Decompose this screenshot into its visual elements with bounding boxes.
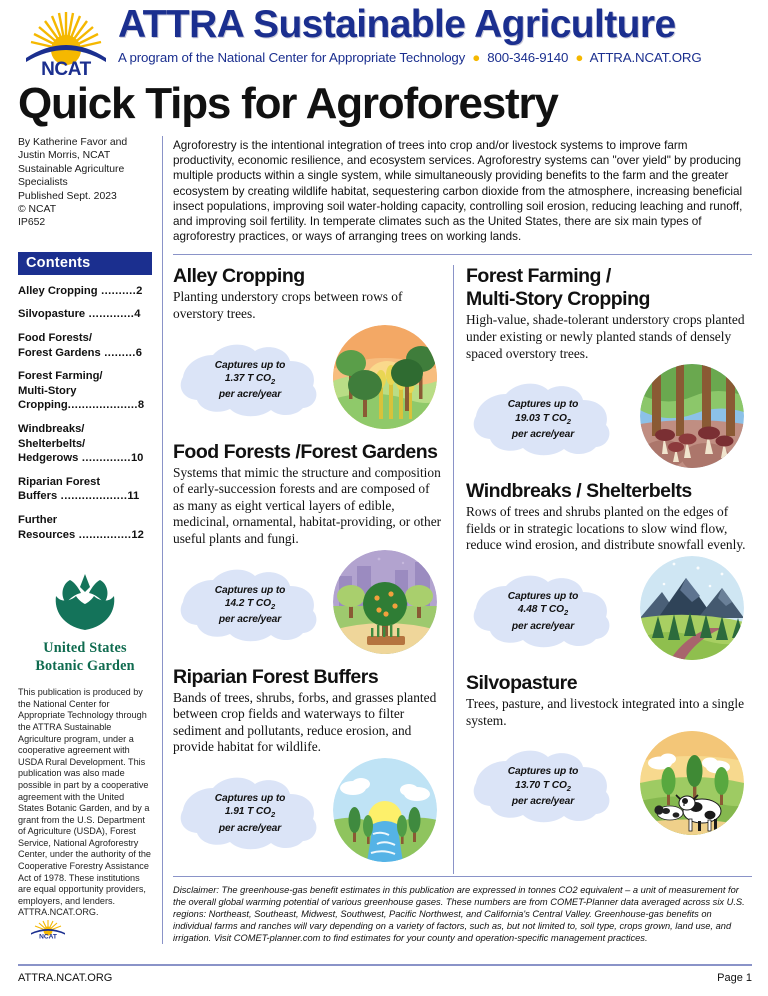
capture-label: Captures up to (175, 792, 325, 805)
two-column-sections: Alley CroppingPlanting understory crops … (163, 265, 752, 874)
fineprint-text: This publication is produced by the Nati… (18, 687, 151, 917)
capture-value: 13.70 T CO2 (468, 779, 618, 795)
toc-entry-title: FurtherResources (18, 514, 75, 541)
usbg-line-2: Botanic Garden (18, 657, 152, 675)
toc-entry[interactable]: FurtherResources ...............12 (18, 513, 152, 542)
page-title: Quick Tips for Agroforestry (0, 78, 768, 130)
toc-entry-page: 6 (136, 347, 142, 359)
toc-leader-dots: ............... (75, 529, 131, 541)
brand-program-text: A program of the National Center for App… (118, 50, 465, 65)
contents-heading: Contents (18, 252, 152, 275)
sidebar: By Katherine Favor and Justin Morris, NC… (18, 136, 162, 944)
capture-unit: per acre/year (468, 795, 618, 808)
practice-description: High-value, shade-tolerant understory cr… (466, 312, 750, 362)
capture-unit: per acre/year (175, 388, 325, 401)
carbon-capture-cloud: Captures up to4.48 T CO2per acre/year (468, 570, 618, 654)
practice-figure-row: Captures up to13.70 T CO2per acre/year (466, 731, 750, 843)
body-wrapper: By Katherine Favor and Justin Morris, NC… (0, 136, 768, 944)
carbon-capture-cloud: Captures up to19.03 T CO2per acre/year (468, 378, 618, 462)
main-content: Agroforestry is the intentional integrat… (163, 136, 752, 944)
practice-section: SilvopastureTrees, pasture, and livestoc… (466, 672, 750, 843)
practice-title: Windbreaks / Shelterbelts (466, 480, 750, 503)
capture-unit: per acre/year (468, 620, 618, 633)
ncat-logo: NCAT (18, 6, 114, 76)
practice-description: Planting understory crops between rows o… (173, 289, 443, 322)
practice-title: Forest Farming /Multi-Story Cropping (466, 265, 750, 311)
table-of-contents: Alley Cropping ..........2Silvopasture .… (18, 284, 152, 542)
capture-label: Captures up to (468, 765, 618, 778)
masthead: NCAT ATTRA Sustainable Agriculture A pro… (0, 0, 768, 80)
carbon-capture-cloud: Captures up to1.91 T CO2per acre/year (175, 772, 325, 856)
left-section-column: Alley CroppingPlanting understory crops … (163, 265, 453, 874)
toc-leader-dots: ............. (85, 308, 134, 320)
footer-divider (18, 964, 752, 966)
toc-entry-title: Food Forests/Forest Gardens (18, 332, 101, 359)
svg-text:NCAT: NCAT (41, 59, 92, 76)
ncat-small-logo-icon: NCAT (22, 919, 74, 939)
separator-dot-icon: ● (469, 50, 484, 65)
intro-divider (173, 254, 752, 255)
practice-figure-row: Captures up to14.2 T CO2per acre/year (173, 550, 443, 662)
capture-label: Captures up to (468, 398, 618, 411)
toc-entry[interactable]: Riparian ForestBuffers .................… (18, 475, 152, 504)
carbon-capture-text: Captures up to13.70 T CO2per acre/year (468, 765, 618, 808)
toc-leader-dots: .......... (98, 285, 137, 297)
practice-description: Rows of trees and shrubs planted on the … (466, 504, 750, 554)
capture-unit: per acre/year (468, 428, 618, 441)
toc-entry[interactable]: Silvopasture .............4 (18, 307, 152, 322)
practice-description: Systems that mimic the structure and com… (173, 465, 443, 548)
published-date: Published Sept. 2023 (18, 190, 152, 203)
svg-text:NCAT: NCAT (39, 934, 57, 939)
windbreaks-illustration (640, 556, 744, 660)
toc-entry-page: 11 (127, 490, 139, 502)
toc-entry[interactable]: Food Forests/Forest Gardens .........6 (18, 331, 152, 360)
riparian-buffer-illustration (333, 758, 437, 862)
columns-container: By Katherine Favor and Justin Morris, NC… (18, 136, 752, 944)
toc-entry[interactable]: Alley Cropping ..........2 (18, 284, 152, 299)
footer-website[interactable]: ATTRA.NCAT.ORG (18, 972, 112, 984)
carbon-capture-cloud: Captures up to1.37 T CO2per acre/year (175, 339, 325, 423)
right-section-column: Forest Farming /Multi-Story CroppingHigh… (454, 265, 752, 874)
toc-entry-page: 8 (138, 399, 144, 411)
practice-figure-row: Captures up to1.91 T CO2per acre/year (173, 758, 443, 870)
capture-value: 19.03 T CO2 (468, 412, 618, 428)
practice-section: Food Forests /Forest GardensSystems that… (173, 441, 443, 662)
fineprint-block: This publication is produced by the Nati… (18, 687, 152, 939)
toc-entry[interactable]: Forest Farming/Multi-StoryCropping......… (18, 369, 152, 413)
footer-page-number: Page 1 (717, 972, 752, 984)
silvopasture-illustration (640, 731, 744, 835)
toc-entry-title: Alley Cropping (18, 285, 98, 297)
toc-entry-page: 12 (131, 529, 143, 541)
usbg-line-1: United States (18, 639, 152, 657)
food-forest-illustration (333, 550, 437, 654)
practice-section: Riparian Forest BuffersBands of trees, s… (173, 666, 443, 870)
practice-section: Forest Farming /Multi-Story CroppingHigh… (466, 265, 750, 476)
practice-figure-row: Captures up to1.37 T CO2per acre/year (173, 325, 443, 437)
capture-label: Captures up to (175, 584, 325, 597)
carbon-capture-text: Captures up to19.03 T CO2per acre/year (468, 398, 618, 441)
practice-figure-row: Captures up to19.03 T CO2per acre/year (466, 364, 750, 476)
byline-authors: By Katherine Favor and Justin Morris, NC… (18, 136, 152, 190)
toc-leader-dots: .............. (78, 452, 131, 464)
disclaimer-text: Disclaimer: The greenhouse-gas benefit e… (173, 884, 752, 944)
usbg-name: United States Botanic Garden (18, 639, 152, 675)
intro-paragraph: Agroforestry is the intentional integrat… (163, 136, 752, 244)
document-page: NCAT ATTRA Sustainable Agriculture A pro… (0, 0, 768, 996)
carbon-capture-cloud: Captures up to13.70 T CO2per acre/year (468, 745, 618, 829)
capture-value: 4.48 T CO2 (468, 603, 618, 619)
botanic-garden-flower-icon (48, 570, 122, 632)
carbon-capture-text: Captures up to1.91 T CO2per acre/year (175, 792, 325, 835)
toc-entry-page: 2 (136, 285, 142, 297)
toc-entry-title: Windbreaks/Shelterbelts/Hedgerows (18, 423, 85, 464)
carbon-capture-text: Captures up to14.2 T CO2per acre/year (175, 584, 325, 627)
capture-unit: per acre/year (175, 822, 325, 835)
practice-description: Trees, pasture, and livestock integrated… (466, 696, 750, 729)
practice-title: Food Forests /Forest Gardens (173, 441, 443, 464)
practice-section: Windbreaks / ShelterbeltsRows of trees a… (466, 480, 750, 668)
toc-entry-page: 10 (131, 452, 143, 464)
page-footer: ATTRA.NCAT.ORG Page 1 (18, 964, 752, 984)
toc-leader-dots: ......... (101, 347, 136, 359)
toc-leader-dots: .................... (68, 399, 138, 411)
toc-entry-title: Silvopasture (18, 308, 85, 320)
toc-entry-page: 4 (134, 308, 140, 320)
toc-entry[interactable]: Windbreaks/Shelterbelts/Hedgerows ......… (18, 422, 152, 466)
publication-id: IP652 (18, 216, 152, 229)
practice-title: Alley Cropping (173, 265, 443, 288)
brand-title: ATTRA Sustainable Agriculture (118, 2, 758, 48)
byline-block: By Katherine Favor and Justin Morris, NC… (18, 136, 152, 230)
practice-title: Silvopasture (466, 672, 750, 695)
carbon-capture-text: Captures up to4.48 T CO2per acre/year (468, 590, 618, 633)
disclaimer-block: Disclaimer: The greenhouse-gas benefit e… (163, 876, 752, 944)
copyright: © NCAT (18, 203, 152, 216)
capture-value: 1.91 T CO2 (175, 805, 325, 821)
brand-phone: 800-346-9140 (487, 50, 568, 65)
disclaimer-divider (173, 876, 752, 877)
forest-farming-illustration (640, 364, 744, 468)
practice-section: Alley CroppingPlanting understory crops … (173, 265, 443, 436)
practice-description: Bands of trees, shrubs, forbs, and grass… (173, 690, 443, 756)
capture-unit: per acre/year (175, 613, 325, 626)
carbon-capture-text: Captures up to1.37 T CO2per acre/year (175, 359, 325, 402)
separator-dot-icon-2: ● (572, 50, 587, 65)
toc-leader-dots: ................... (57, 490, 127, 502)
brand-website[interactable]: ATTRA.NCAT.ORG (590, 50, 702, 65)
practice-title: Riparian Forest Buffers (173, 666, 443, 689)
brand-subtitle: A program of the National Center for App… (118, 50, 758, 65)
alley-cropping-illustration (333, 325, 437, 429)
capture-label: Captures up to (175, 359, 325, 372)
usbg-logo-block: United States Botanic Garden (18, 570, 152, 675)
practice-figure-row: Captures up to4.48 T CO2per acre/year (466, 556, 750, 668)
capture-value: 14.2 T CO2 (175, 597, 325, 613)
capture-value: 1.37 T CO2 (175, 372, 325, 388)
carbon-capture-cloud: Captures up to14.2 T CO2per acre/year (175, 564, 325, 648)
capture-label: Captures up to (468, 590, 618, 603)
